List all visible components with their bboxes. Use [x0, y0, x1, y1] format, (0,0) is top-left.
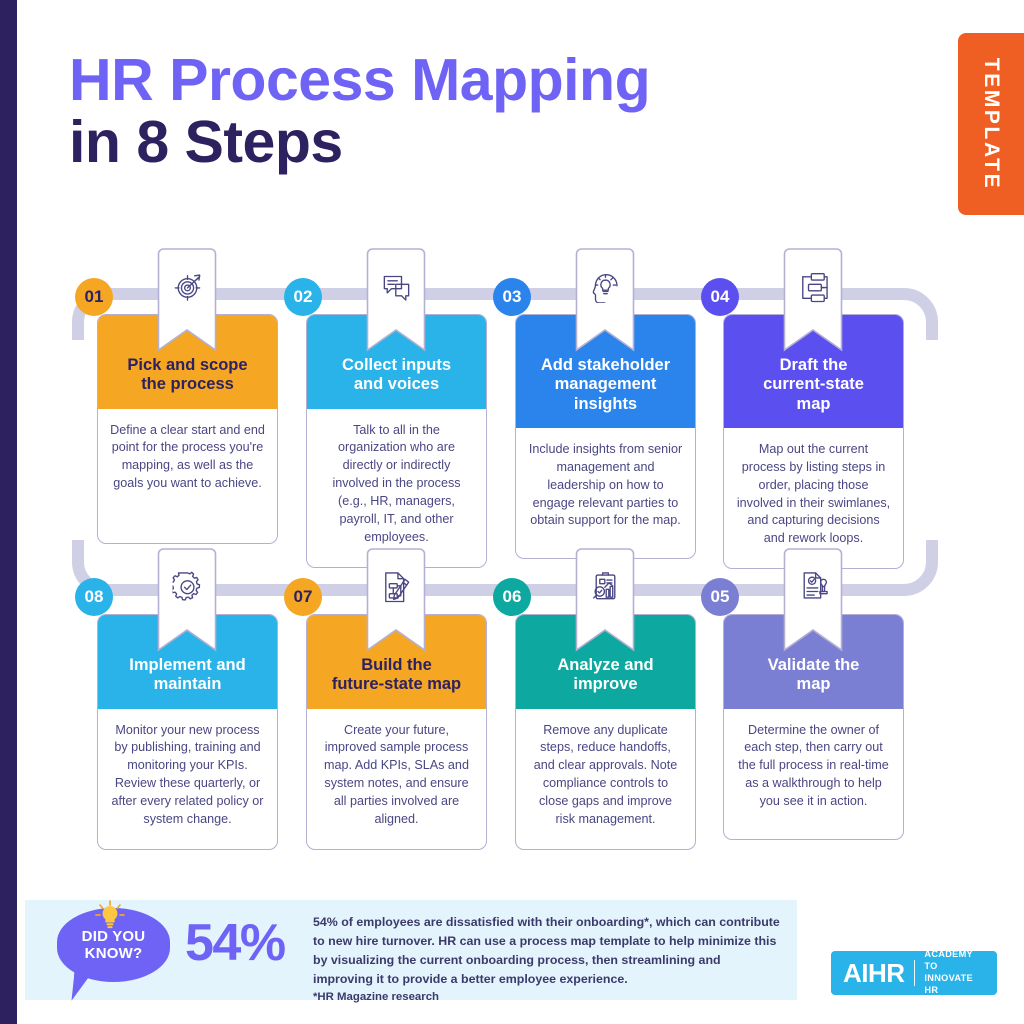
stat-number: 54%: [185, 913, 285, 973]
document-stamp-check-icon: [799, 570, 829, 603]
step-ribbon: [153, 548, 222, 656]
step-number-badge: 08: [75, 578, 113, 616]
step-ribbon: [362, 248, 431, 356]
step-card-description: Monitor your new process by publishing, …: [98, 709, 277, 849]
step-card-description: Determine the owner of each step, then c…: [724, 709, 903, 839]
clipboard-chart-magnifier-icon: [591, 570, 621, 603]
infographic-root: TEMPLATE HR Process Mapping in 8 Steps P…: [0, 0, 1024, 1024]
step-card-description: Create your future, improved sample proc…: [307, 709, 486, 849]
stat-description-text: 54% of employees are dissatisfied with t…: [313, 915, 780, 986]
head-lightbulb-icon: [591, 270, 621, 303]
step-number-badge: 02: [284, 278, 322, 316]
steps-grid: Pick and scopethe processDefine a clear …: [0, 0, 1024, 1024]
step-ribbon: [362, 548, 431, 656]
flowchart-icon: [799, 270, 829, 303]
aihr-logo-tagline-line-2: INNOVATE HR: [924, 973, 985, 997]
stat-description: 54% of employees are dissatisfied with t…: [313, 913, 783, 1007]
aihr-logo-tagline-line-1: ACADEMY TO: [924, 949, 985, 973]
gear-check-icon: [173, 570, 203, 603]
step-card-description: Talk to all in the organization who are …: [307, 409, 486, 567]
step-number-badge: 07: [284, 578, 322, 616]
step-number-badge: 04: [701, 278, 739, 316]
step-ribbon: [779, 248, 848, 356]
document-flowchart-pen-icon: [382, 570, 412, 603]
step-card-description: Define a clear start and end point for t…: [98, 409, 277, 539]
aihr-logo-wordmark: AIHR: [843, 958, 905, 989]
stat-source: *HR Magazine research: [313, 989, 783, 1006]
step-ribbon: [779, 548, 848, 656]
step-number-badge: 05: [701, 578, 739, 616]
aihr-logo-tagline: ACADEMY TO INNOVATE HR: [924, 949, 985, 997]
step-number-badge: 06: [493, 578, 531, 616]
aihr-logo-divider: [914, 960, 916, 986]
step-card-description: Remove any duplicate steps, reduce hando…: [516, 709, 695, 849]
step-ribbon: [571, 548, 640, 656]
step-number-badge: 03: [493, 278, 531, 316]
aihr-logo: AIHR ACADEMY TO INNOVATE HR: [831, 951, 997, 995]
step-number-badge: 01: [75, 278, 113, 316]
step-ribbon: [153, 248, 222, 356]
chat-bubbles-icon: [382, 270, 412, 303]
step-card-description: Include insights from senior management …: [516, 428, 695, 558]
lightbulb-icon: [92, 898, 128, 934]
step-ribbon: [571, 248, 640, 356]
target-arrow-icon: [173, 270, 203, 303]
